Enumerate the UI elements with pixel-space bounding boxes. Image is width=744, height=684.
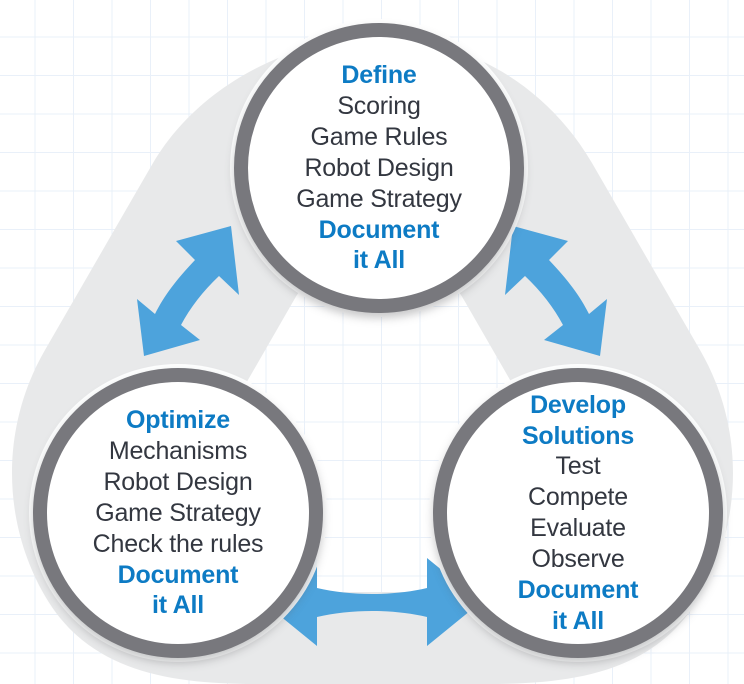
- node-define-heading: Define: [341, 60, 416, 91]
- node-develop-footer-2: it All: [552, 606, 604, 637]
- cycle-node-define[interactable]: Define Scoring Game Rules Robot Design G…: [234, 23, 524, 313]
- node-define-content: Define Scoring Game Rules Robot Design G…: [254, 60, 504, 276]
- node-optimize-content: Optimize Mechanisms Robot Design Game St…: [53, 405, 303, 621]
- node-develop-heading-line-2: Solutions: [522, 421, 634, 452]
- node-define-footer-1: Document: [319, 215, 440, 246]
- node-optimize-item-2: Robot Design: [103, 467, 252, 498]
- node-define-item-3: Robot Design: [304, 153, 453, 184]
- node-optimize-item-1: Mechanisms: [109, 436, 247, 467]
- arrow-optimize-define: [137, 226, 239, 356]
- diagram-canvas: Define Scoring Game Rules Robot Design G…: [0, 0, 744, 684]
- cycle-node-develop-solutions[interactable]: Develop Solutions Test Compete Evaluate …: [433, 368, 723, 658]
- node-develop-footer-1: Document: [518, 575, 639, 606]
- node-define-footer-2: it All: [353, 245, 405, 276]
- node-optimize-item-3: Game Strategy: [95, 498, 261, 529]
- cycle-node-optimize[interactable]: Optimize Mechanisms Robot Design Game St…: [33, 368, 323, 658]
- node-develop-content: Develop Solutions Test Compete Evaluate …: [453, 390, 703, 636]
- node-develop-item-4: Observe: [531, 544, 624, 575]
- node-develop-item-3: Evaluate: [530, 513, 626, 544]
- node-develop-heading-line-1: Develop: [530, 390, 626, 421]
- node-optimize-item-4: Check the rules: [93, 529, 264, 560]
- node-optimize-heading: Optimize: [126, 405, 230, 436]
- node-optimize-footer-1: Document: [118, 560, 239, 591]
- node-define-item-4: Game Strategy: [296, 184, 462, 215]
- node-define-item-2: Game Rules: [311, 122, 448, 153]
- node-optimize-footer-2: it All: [152, 590, 204, 621]
- arrow-define-develop: [505, 226, 607, 356]
- node-develop-item-1: Test: [555, 451, 600, 482]
- node-define-item-1: Scoring: [337, 91, 420, 122]
- node-develop-item-2: Compete: [528, 482, 628, 513]
